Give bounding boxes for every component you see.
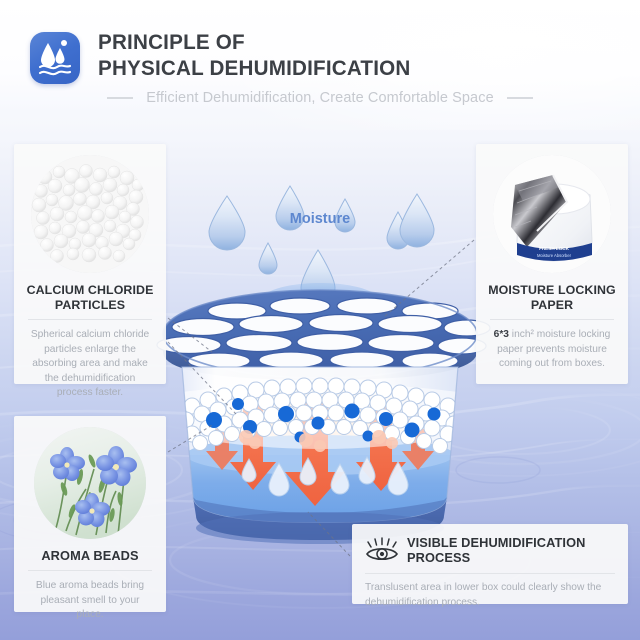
water-drop-wave-icon (30, 32, 80, 84)
callout-calcium-chloride: CALCIUM CHLORIDE PARTICLES Spherical cal… (14, 144, 166, 384)
subtitle-dash-left (107, 97, 133, 99)
card-title-paper: MOISTURE LOCKING PAPER (476, 283, 628, 312)
card-body-paper-rest: inch² moisture locking paper prevents mo… (497, 329, 610, 369)
header: PRINCIPLE OF PHYSICAL DEHUMIDIFICATION E… (0, 0, 640, 130)
card-body-paper-bold: 6*3 (494, 329, 509, 340)
callout-aroma-beads: AROMA BEADS Blue aroma beads bring pleas… (14, 416, 166, 612)
blue-flax-flowers-photo (34, 427, 146, 539)
card-body-visible: Translusent area in lower box could clea… (352, 581, 628, 611)
card-body-calcium: Spherical calcium chloride particles enl… (14, 328, 166, 400)
moisture-locking-paper-photo: FRESH LOCK Moisture Absorber (493, 155, 611, 273)
calcium-beads-layer (178, 378, 462, 454)
card-body-paper: 6*3 inch² moisture locking paper prevent… (476, 328, 628, 371)
callout-visible-process: VISIBLE DEHUMIDIFICATION PROCESS Translu… (352, 524, 628, 604)
page-title: PRINCIPLE OF PHYSICAL DEHUMIDIFICATION (98, 30, 424, 81)
subtitle-dash-right (507, 97, 533, 99)
subtitle-row: Efficient Dehumidification, Create Comfo… (0, 90, 640, 106)
card-title-calcium: CALCIUM CHLORIDE PARTICLES (14, 283, 166, 312)
calcium-chloride-particles-photo (31, 155, 149, 273)
card-divider (365, 573, 615, 574)
svg-text:FRESH LOCK: FRESH LOCK (539, 246, 570, 251)
callout-moisture-locking-paper: FRESH LOCK Moisture Absorber MOISTURE LO… (476, 144, 628, 384)
card-divider (490, 319, 614, 320)
title-line-1: PRINCIPLE OF (98, 30, 411, 56)
card-title-visible: VISIBLE DEHUMIDIFICATION PROCESS (407, 535, 615, 565)
brand-badge (30, 32, 80, 84)
card-body-aroma: Blue aroma beads bring pleasant smell to… (14, 579, 166, 622)
title-line-2: PHYSICAL DEHUMIDIFICATION (98, 56, 411, 82)
subtitle-text: Efficient Dehumidification, Create Comfo… (146, 90, 493, 106)
card-divider (28, 570, 152, 571)
svg-text:Moisture Absorber: Moisture Absorber (537, 253, 572, 258)
card-title-aroma: AROMA BEADS (14, 548, 166, 563)
card-divider (28, 319, 152, 320)
eye-icon (365, 537, 399, 563)
